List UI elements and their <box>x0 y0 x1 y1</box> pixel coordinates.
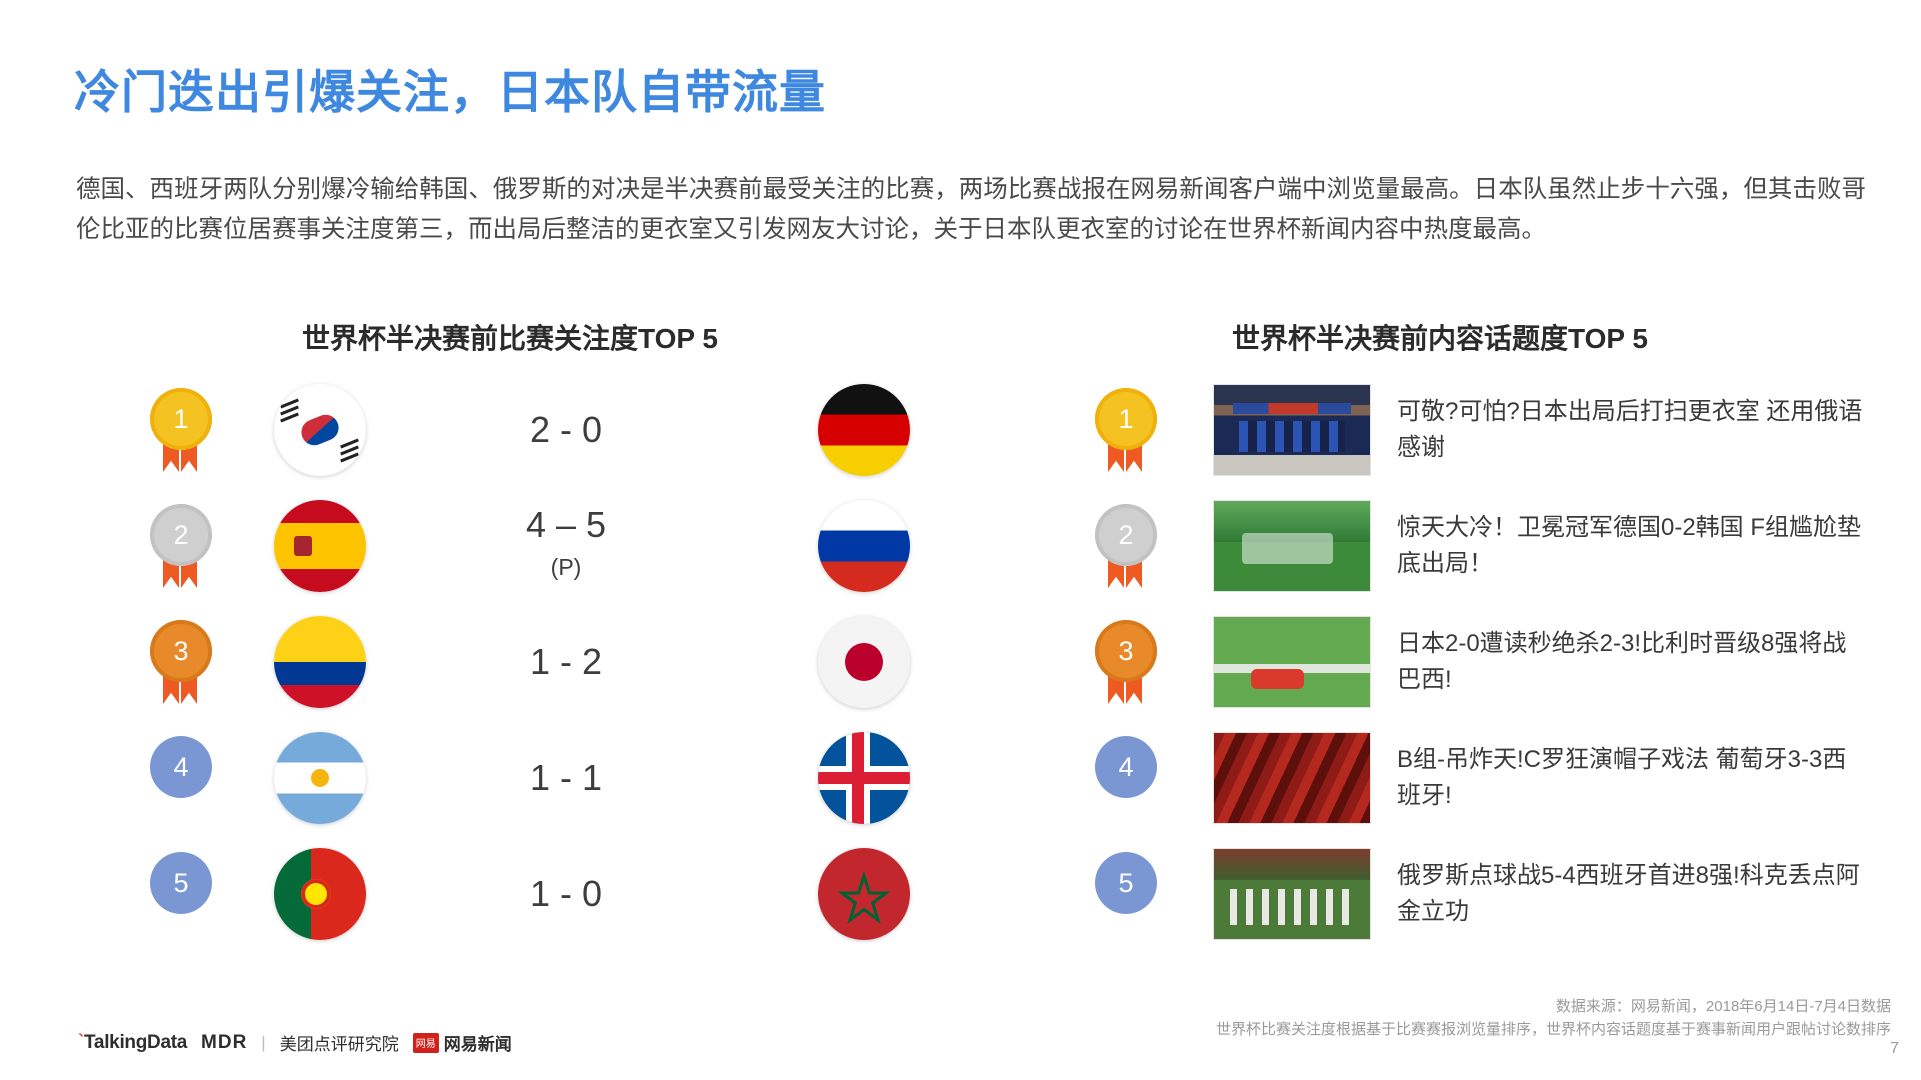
flag-russia-icon <box>818 500 910 592</box>
topic-headline[interactable]: 俄罗斯点球战5-4西班牙首进8强!科克丢点阿金立功 <box>1397 858 1867 930</box>
penalty-note: (P) <box>376 547 756 587</box>
logo-meituan-research: 美团点评研究院 <box>280 1030 399 1055</box>
rank-badge-2: 2 <box>1095 504 1157 588</box>
flag-spain-icon <box>274 500 366 592</box>
netease-label: 网易新闻 <box>444 1030 512 1055</box>
rank-number: 2 <box>1095 504 1157 566</box>
flag-south-korea-icon <box>274 384 366 476</box>
logo-mdr: MDR <box>201 1032 247 1054</box>
rank-number: 5 <box>150 852 212 914</box>
match-list: 1 2 - 0 2 4 – 5 (P) <box>150 380 910 960</box>
left-section-heading: 世界杯半决赛前比赛关注度TOP 5 <box>100 317 920 357</box>
source-line-1: 数据来源：网易新闻，2018年6月14日-7月4日数据 <box>631 995 1891 1018</box>
match-row[interactable]: 4 1 - 1 <box>150 728 910 828</box>
flag-morocco-icon <box>818 848 910 940</box>
score-value: 1 - 2 <box>530 641 602 682</box>
topic-thumbnail-pitch-celebration <box>1213 616 1371 708</box>
flag-germany-icon <box>818 384 910 476</box>
list-item[interactable]: 2 惊天大冷！卫冕冠军德国0-2韩国 F组尴尬垫底出局！ <box>1095 496 1895 596</box>
topic-thumbnail-locker-room <box>1213 384 1371 476</box>
topic-headline[interactable]: B组-吊炸天!C罗狂演帽子戏法 葡萄牙3-3西班牙! <box>1397 742 1867 814</box>
score-value: 1 - 1 <box>530 757 602 798</box>
netease-mark-icon: 网易 <box>413 1033 439 1053</box>
page-title: 冷门迭出引爆关注，日本队自带流量 <box>74 56 826 122</box>
rank-badge-3: 3 <box>150 620 212 704</box>
score-value: 1 - 0 <box>530 873 602 914</box>
flag-argentina-icon <box>274 732 366 824</box>
topic-thumbnail-red-crowd <box>1213 732 1371 824</box>
rank-badge-1: 1 <box>150 388 212 472</box>
logo-talkingdata: `TalkingData <box>78 1032 187 1054</box>
flag-portugal-icon <box>274 848 366 940</box>
flag-colombia-icon <box>274 616 366 708</box>
rank-number: 4 <box>1095 736 1157 798</box>
rank-number: 1 <box>150 388 212 450</box>
match-row[interactable]: 2 4 – 5 (P) <box>150 496 910 596</box>
topic-headline[interactable]: 可敬?可怕?日本出局后打扫更衣室 还用俄语感谢 <box>1397 394 1867 466</box>
topic-thumbnail-team-celebration <box>1213 848 1371 940</box>
match-score: 4 – 5 (P) <box>366 505 756 587</box>
list-item[interactable]: 5 俄罗斯点球战5-4西班牙首进8强!科克丢点阿金立功 <box>1095 844 1895 944</box>
topic-thumbnail-goal-save <box>1213 500 1371 592</box>
rank-number: 5 <box>1095 852 1157 914</box>
match-score: 1 - 1 <box>366 758 756 798</box>
intro-paragraph: 德国、西班牙两队分别爆冷输给韩国、俄罗斯的对决是半决赛前最受关注的比赛，两场比赛… <box>76 170 1866 250</box>
logo-separator: | <box>261 1033 265 1053</box>
match-row[interactable]: 5 1 - 0 <box>150 844 910 944</box>
logo-netease: 网易 网易新闻 <box>413 1030 512 1055</box>
page-number: 7 <box>1890 1040 1899 1058</box>
rank-badge-5: 5 <box>150 852 212 936</box>
rank-number: 3 <box>1095 620 1157 682</box>
rank-number: 3 <box>150 620 212 682</box>
match-row[interactable]: 1 2 - 0 <box>150 380 910 480</box>
match-score: 1 - 2 <box>366 642 756 682</box>
slide-root: 冷门迭出引爆关注，日本队自带流量 德国、西班牙两队分别爆冷输给韩国、俄罗斯的对决… <box>0 0 1921 1080</box>
source-note: 数据来源：网易新闻，2018年6月14日-7月4日数据 世界杯比赛关注度根据基于… <box>631 995 1891 1041</box>
list-item[interactable]: 4 B组-吊炸天!C罗狂演帽子戏法 葡萄牙3-3西班牙! <box>1095 728 1895 828</box>
right-section-heading: 世界杯半决赛前内容话题度TOP 5 <box>1000 317 1880 357</box>
score-value: 4 – 5 <box>526 504 606 545</box>
rank-badge-4: 4 <box>150 736 212 820</box>
rank-number: 4 <box>150 736 212 798</box>
topic-headline[interactable]: 惊天大冷！卫冕冠军德国0-2韩国 F组尴尬垫底出局！ <box>1397 510 1867 582</box>
match-score: 1 - 0 <box>366 874 756 914</box>
rank-number: 1 <box>1095 388 1157 450</box>
score-value: 2 - 0 <box>530 409 602 450</box>
flag-iceland-icon <box>818 732 910 824</box>
match-row[interactable]: 3 1 - 2 <box>150 612 910 712</box>
match-score: 2 - 0 <box>366 410 756 450</box>
rank-badge-3: 3 <box>1095 620 1157 704</box>
flag-japan-icon <box>818 616 910 708</box>
rank-badge-2: 2 <box>150 504 212 588</box>
topic-headline[interactable]: 日本2-0遭读秒绝杀2-3!比利时晋级8强将战巴西! <box>1397 626 1867 698</box>
rank-number: 2 <box>150 504 212 566</box>
footer-logos: `TalkingData MDR | 美团点评研究院 网易 网易新闻 <box>78 1030 512 1055</box>
list-item[interactable]: 1 可敬?可怕?日本出局后打扫更衣室 还用俄语感谢 <box>1095 380 1895 480</box>
list-item[interactable]: 3 日本2-0遭读秒绝杀2-3!比利时晋级8强将战巴西! <box>1095 612 1895 712</box>
topic-list: 1 可敬?可怕?日本出局后打扫更衣室 还用俄语感谢 2 惊天大冷！卫冕冠军德国0… <box>1095 380 1895 960</box>
rank-badge-4: 4 <box>1095 736 1157 820</box>
source-line-2: 世界杯比赛关注度根据基于比赛赛报浏览量排序，世界杯内容话题度基于赛事新闻用户跟帖… <box>631 1018 1891 1041</box>
rank-badge-1: 1 <box>1095 388 1157 472</box>
rank-badge-5: 5 <box>1095 852 1157 936</box>
